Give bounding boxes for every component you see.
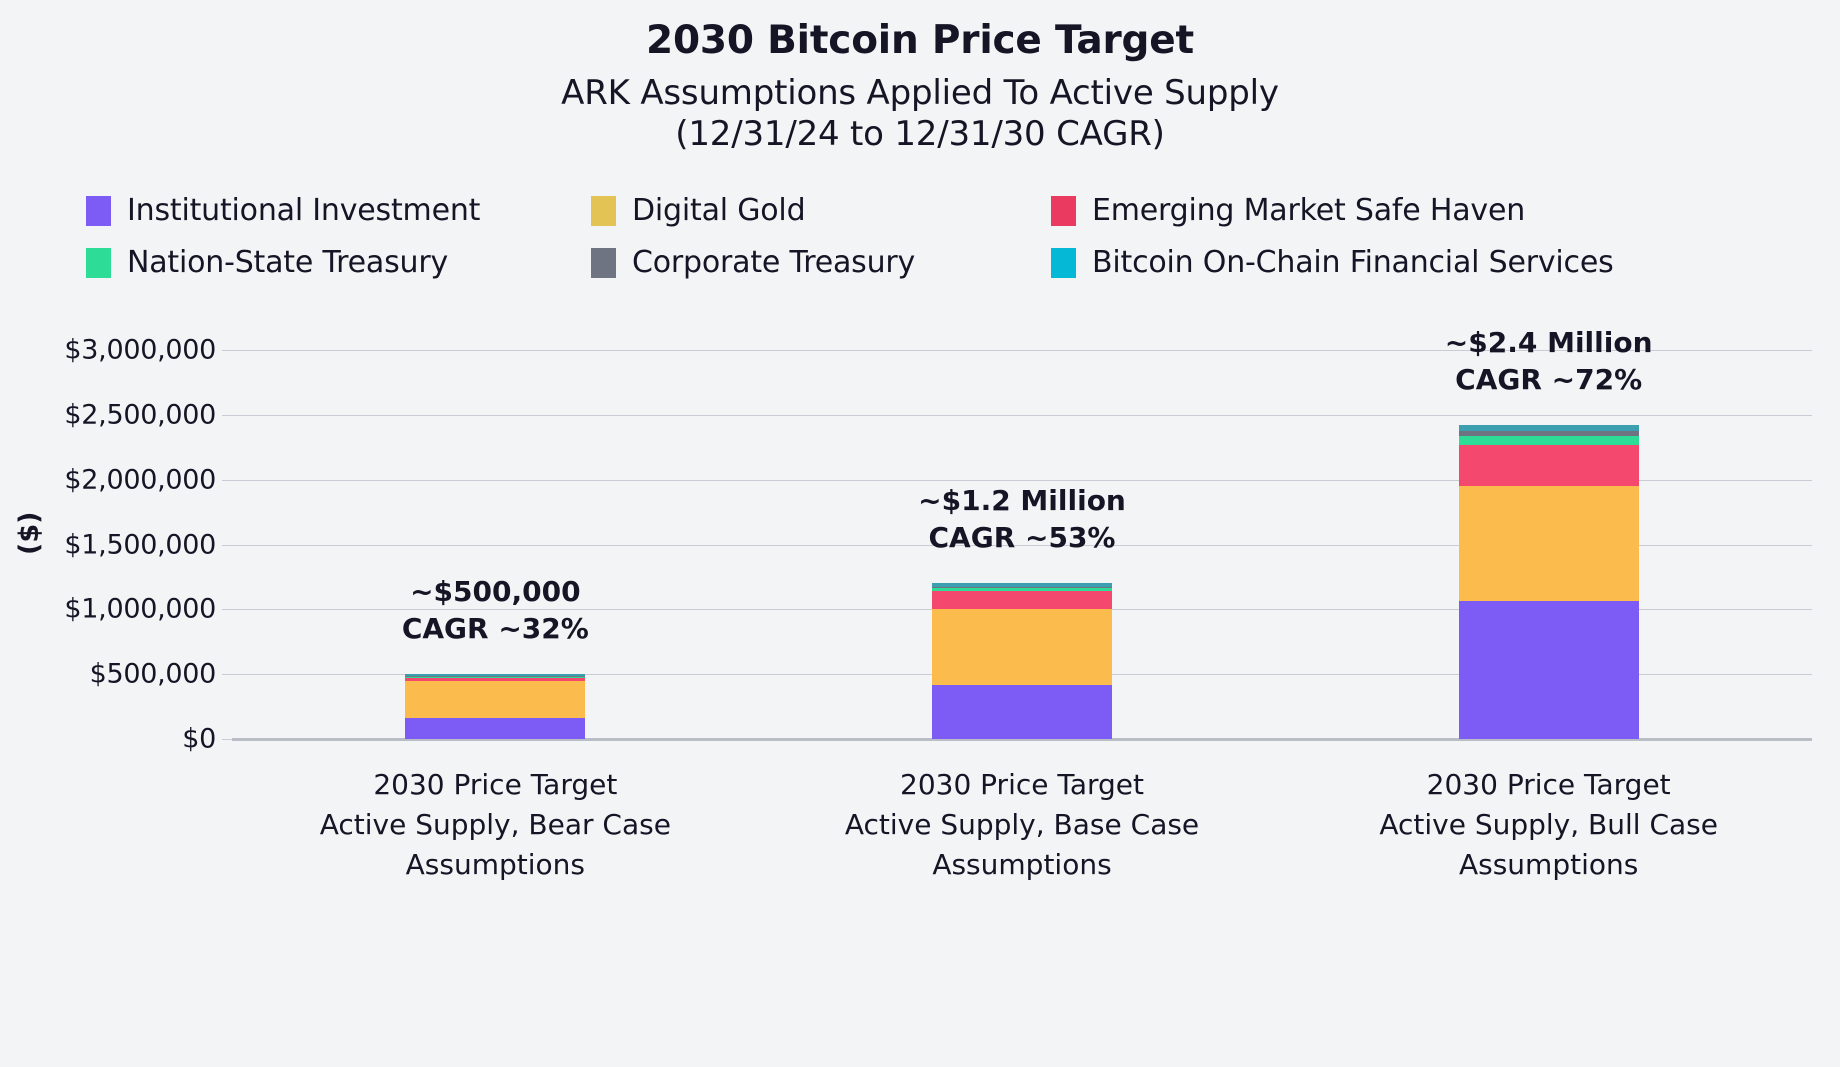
bar-value-annotation: ~$2.4 MillionCAGR ~72%: [1349, 325, 1749, 399]
x-axis-label-line: Assumptions: [255, 845, 735, 885]
y-tick-label: $2,500,000: [64, 399, 216, 430]
y-tick-mark: [222, 415, 232, 416]
legend-item-label: Corporate Treasury: [632, 245, 915, 280]
y-tick-mark: [222, 480, 232, 481]
x-axis-label: 2030 Price TargetActive Supply, Bull Cas…: [1309, 765, 1789, 884]
bar-total-label: ~$2.4 Million: [1349, 325, 1749, 362]
legend-item-bitcoin-on-chain-financial-services[interactable]: Bitcoin On-Chain Financial Services: [1051, 245, 1691, 280]
page-title: 2030 Bitcoin Price Target: [0, 18, 1840, 64]
y-tick-mark: [222, 545, 232, 546]
bar-cagr-label: CAGR ~72%: [1349, 362, 1749, 399]
legend-item-nation-state-treasury[interactable]: Nation-State Treasury: [86, 245, 591, 280]
bar-stack[interactable]: [932, 583, 1112, 739]
y-axis-title: ($): [14, 512, 45, 555]
legend-swatch-icon: [591, 196, 616, 226]
legend-swatch-icon: [1051, 248, 1076, 278]
bar-total-label: ~$500,000: [295, 574, 695, 611]
x-axis-label-line: Active Supply, Bull Case: [1309, 805, 1789, 845]
bar-segment[interactable]: [405, 718, 585, 739]
bar-segment[interactable]: [932, 591, 1112, 609]
legend-item-corporate-treasury[interactable]: Corporate Treasury: [591, 245, 1051, 280]
legend-item-label: Bitcoin On-Chain Financial Services: [1092, 245, 1614, 280]
legend-item-label: Emerging Market Safe Haven: [1092, 193, 1525, 228]
bar-cagr-label: CAGR ~32%: [295, 611, 695, 648]
legend-item-emerging-market-safe-haven[interactable]: Emerging Market Safe Haven: [1051, 193, 1691, 228]
legend-item-label: Institutional Investment: [127, 193, 480, 228]
legend-swatch-icon: [1051, 196, 1076, 226]
x-axis-label-line: Active Supply, Base Case: [782, 805, 1262, 845]
y-tick-label: $500,000: [90, 659, 216, 690]
chart-subtitle-line2: (12/31/24 to 12/31/30 CAGR): [0, 114, 1840, 155]
x-axis-label-line: 2030 Price Target: [1309, 765, 1789, 805]
y-tick-label: $1,000,000: [64, 594, 216, 625]
bar-value-annotation: ~$1.2 MillionCAGR ~53%: [822, 483, 1222, 557]
bar-segment[interactable]: [1459, 436, 1639, 445]
legend-row-2: Nation-State Treasury Corporate Treasury…: [86, 245, 1786, 280]
bar-stack[interactable]: [1459, 425, 1639, 739]
legend-item-digital-gold[interactable]: Digital Gold: [591, 193, 1051, 228]
x-axis-label-line: Assumptions: [1309, 845, 1789, 885]
legend-item-institutional-investment[interactable]: Institutional Investment: [86, 193, 591, 228]
chart-subtitle-line1: ARK Assumptions Applied To Active Supply: [0, 73, 1840, 114]
x-axis-label: 2030 Price TargetActive Supply, Base Cas…: [782, 765, 1262, 884]
y-tick-mark: [222, 739, 232, 740]
legend-swatch-icon: [86, 196, 111, 226]
y-tick-label: $0: [182, 724, 216, 755]
y-tick-mark: [222, 609, 232, 610]
chart-legend: Institutional Investment Digital Gold Em…: [86, 193, 1786, 297]
legend-swatch-icon: [86, 248, 111, 278]
bar-segment[interactable]: [1459, 601, 1639, 739]
y-tick-label: $2,000,000: [64, 464, 216, 495]
bar-segment[interactable]: [1459, 445, 1639, 485]
bar-total-label: ~$1.2 Million: [822, 483, 1222, 520]
bar-stack[interactable]: [405, 674, 585, 739]
x-axis-label-line: Assumptions: [782, 845, 1262, 885]
y-tick-label: $1,500,000: [64, 529, 216, 560]
plot-area: $0$500,000$1,000,000$1,500,000$2,000,000…: [232, 350, 1812, 739]
bar-segment[interactable]: [932, 685, 1112, 739]
bar-segment[interactable]: [1459, 486, 1639, 601]
x-axis-label-line: Active Supply, Bear Case: [255, 805, 735, 845]
bar-segment[interactable]: [405, 681, 585, 718]
bar-value-annotation: ~$500,000CAGR ~32%: [295, 574, 695, 648]
legend-row-1: Institutional Investment Digital Gold Em…: [86, 193, 1786, 228]
legend-swatch-icon: [591, 248, 616, 278]
legend-item-label: Digital Gold: [632, 193, 805, 228]
chart-root: 2030 Bitcoin Price Target ARK Assumption…: [0, 0, 1840, 1067]
y-tick-mark: [222, 350, 232, 351]
x-axis-label: 2030 Price TargetActive Supply, Bear Cas…: [255, 765, 735, 884]
y-tick-mark: [222, 674, 232, 675]
bar-segment[interactable]: [932, 609, 1112, 684]
y-gridline: [232, 415, 1812, 416]
bar-cagr-label: CAGR ~53%: [822, 520, 1222, 557]
x-axis-label-line: 2030 Price Target: [255, 765, 735, 805]
y-tick-label: $3,000,000: [64, 335, 216, 366]
x-axis-label-line: 2030 Price Target: [782, 765, 1262, 805]
title-block: 2030 Bitcoin Price Target ARK Assumption…: [0, 18, 1840, 155]
legend-item-label: Nation-State Treasury: [127, 245, 448, 280]
